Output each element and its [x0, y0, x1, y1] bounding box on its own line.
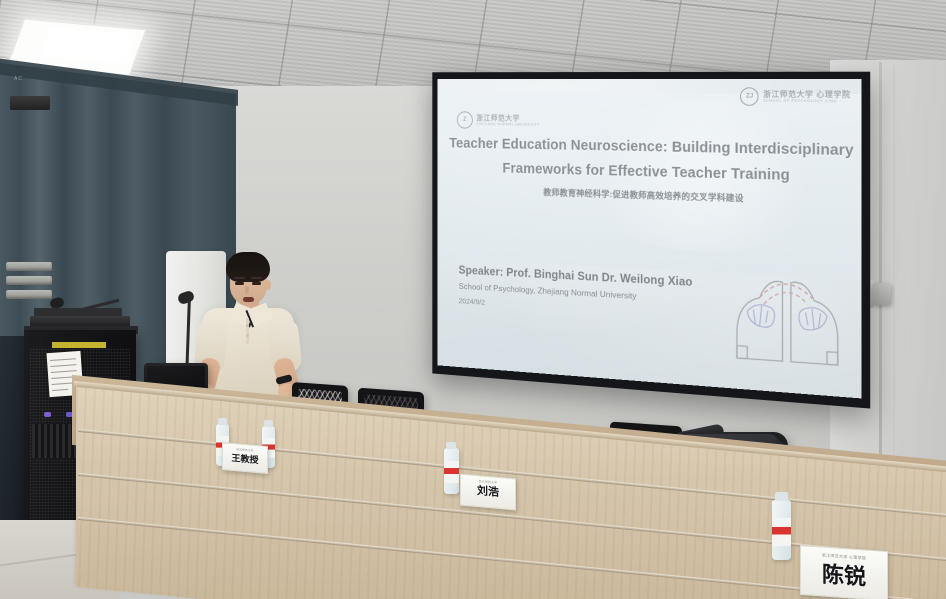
bottle-cap-1: [218, 418, 227, 425]
placard-mid: 浙江师范大学 刘浩: [460, 474, 516, 511]
ac-control-panel[interactable]: [10, 96, 50, 110]
rack-indicator-1: [44, 412, 51, 417]
ac-louver-2: [6, 276, 52, 285]
logo-top-right-en: SCHOOL OF PSYCHOLOGY ZJNU: [763, 98, 851, 103]
presenter-eyebrow-left: [234, 277, 245, 279]
bottle-label-4: [772, 518, 791, 546]
presenter-nose: [245, 286, 249, 294]
presenter-placket: [246, 318, 249, 344]
university-seal-icon-2: Z: [457, 111, 473, 128]
lecture-room-photo: ZJ 浙江师范大学 心理学院 SCHOOL OF PSYCHOLOGY ZJNU…: [0, 0, 946, 599]
logo-left-en: ZHEJIANG NORMAL UNIVERSITY: [476, 122, 539, 127]
bottle-label-3: [444, 461, 459, 483]
university-seal-icon: ZJ: [740, 87, 759, 106]
presenter-eyebrow-right: [251, 277, 262, 279]
bottle-cap-4: [775, 492, 788, 501]
placard-front-name: 陈锐: [801, 562, 887, 590]
door-handle-icon[interactable]: [872, 283, 891, 305]
door-seam-secondary: [893, 64, 895, 514]
two-heads-brains-icon: [733, 261, 842, 367]
placard-mid-name: 刘浩: [461, 485, 515, 501]
ac-louver-3: [6, 290, 52, 299]
ac-brand-label: AC: [14, 76, 23, 82]
placard-left: 浙江师范大学 王教授: [222, 442, 268, 474]
presenter-hair: [226, 252, 270, 282]
placard-front: 浙江师范大学 心理学院 陈锐: [800, 545, 888, 599]
presenter-eye-left: [235, 282, 244, 285]
bottle-cap-3: [446, 442, 456, 449]
slide-date: 2024/9/2: [459, 296, 485, 306]
presenter-eye-right: [252, 282, 261, 285]
presenter-mouth: [243, 297, 254, 302]
placard-left-name: 王教授: [223, 453, 267, 466]
bottle-cap-2: [264, 420, 273, 427]
rack-yellow-label: [52, 342, 106, 348]
slide-logo-top-right: ZJ 浙江师范大学 心理学院 SCHOOL OF PSYCHOLOGY ZJNU: [740, 87, 850, 106]
placard-front-org: 浙江师范大学 心理学院: [801, 551, 887, 563]
slide-logo-left: Z 浙江师范大学 ZHEJIANG NORMAL UNIVERSITY: [457, 111, 540, 129]
projection-screen: ZJ 浙江师范大学 心理学院 SCHOOL OF PSYCHOLOGY ZJNU…: [437, 79, 861, 399]
ac-louver-1: [6, 262, 52, 271]
rack-device-top: [34, 308, 122, 316]
presenter-ear: [264, 280, 271, 290]
logo-top-right-cn: 浙江师范大学 心理学院: [763, 90, 851, 98]
